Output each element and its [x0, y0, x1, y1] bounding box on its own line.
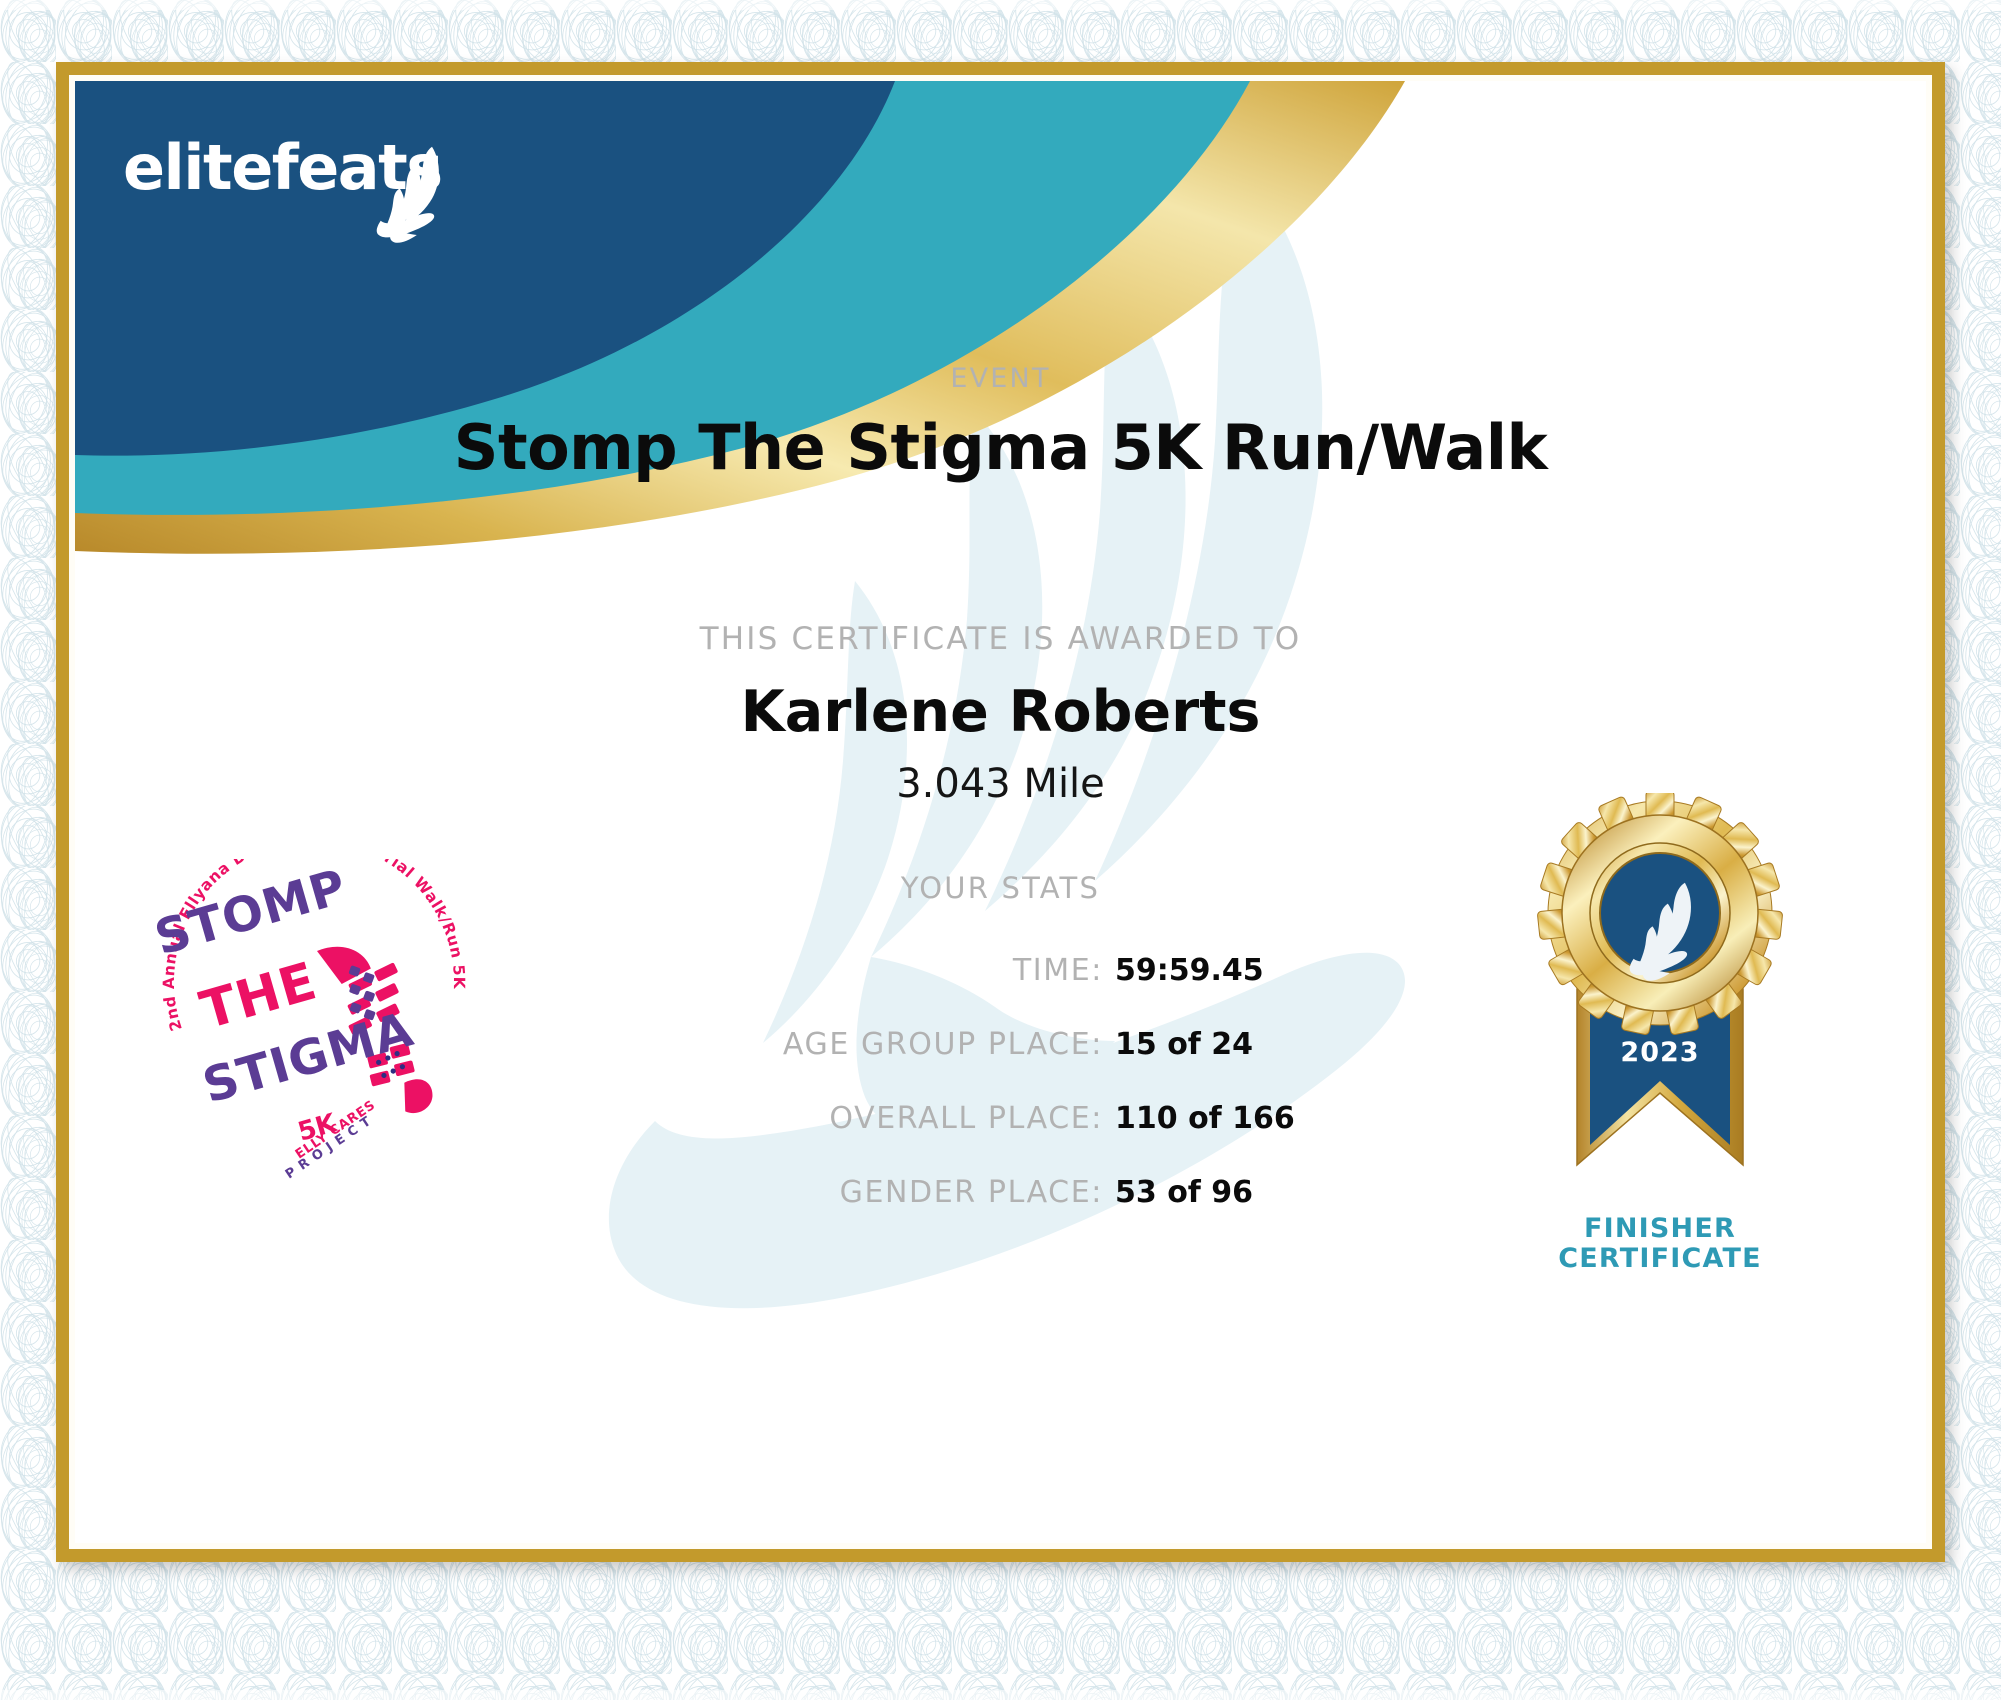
certificate-paper: elitefeats EVENT Stomp The Stigma 5K Run… [0, 0, 2001, 1700]
gold-certificate-frame: elitefeats EVENT Stomp The Stigma 5K Run… [56, 62, 1945, 1562]
awarded-to-label: THIS CERTIFICATE IS AWARDED TO [75, 621, 1926, 657]
stat-value: 15 of 24 [1115, 1027, 1315, 1062]
recipient-name: Karlene Roberts [75, 679, 1926, 745]
finisher-certificate-caption: FINISHER CERTIFICATE [1515, 1214, 1805, 1274]
stat-key: TIME: [1013, 953, 1103, 988]
finisher-badge-year: 2023 [1620, 1037, 1699, 1068]
stat-value: 110 of 166 [1115, 1101, 1315, 1136]
stat-key: AGE GROUP PLACE: [783, 1027, 1103, 1062]
stat-value: 53 of 96 [1115, 1175, 1315, 1210]
finisher-caption-line1: FINISHER [1515, 1214, 1805, 1244]
finisher-medal-badge: 2023 [1515, 793, 1805, 1213]
winged-foot-icon [123, 139, 483, 249]
event-label: EVENT [75, 363, 1926, 394]
finisher-caption-line2: CERTIFICATE [1515, 1244, 1805, 1274]
stat-key: GENDER PLACE: [840, 1175, 1103, 1210]
event-title: Stomp The Stigma 5K Run/Walk [75, 411, 1926, 484]
stomp-the-stigma-event-logo: 2nd Annual Ellyana DeLaTorre Memorial Wa… [149, 859, 479, 1189]
event-logo-line2: THE [194, 951, 324, 1041]
certificate-body: elitefeats EVENT Stomp The Stigma 5K Run… [75, 81, 1926, 1543]
stat-key: OVERALL PLACE: [829, 1101, 1103, 1136]
stat-value: 59:59.45 [1115, 953, 1315, 988]
